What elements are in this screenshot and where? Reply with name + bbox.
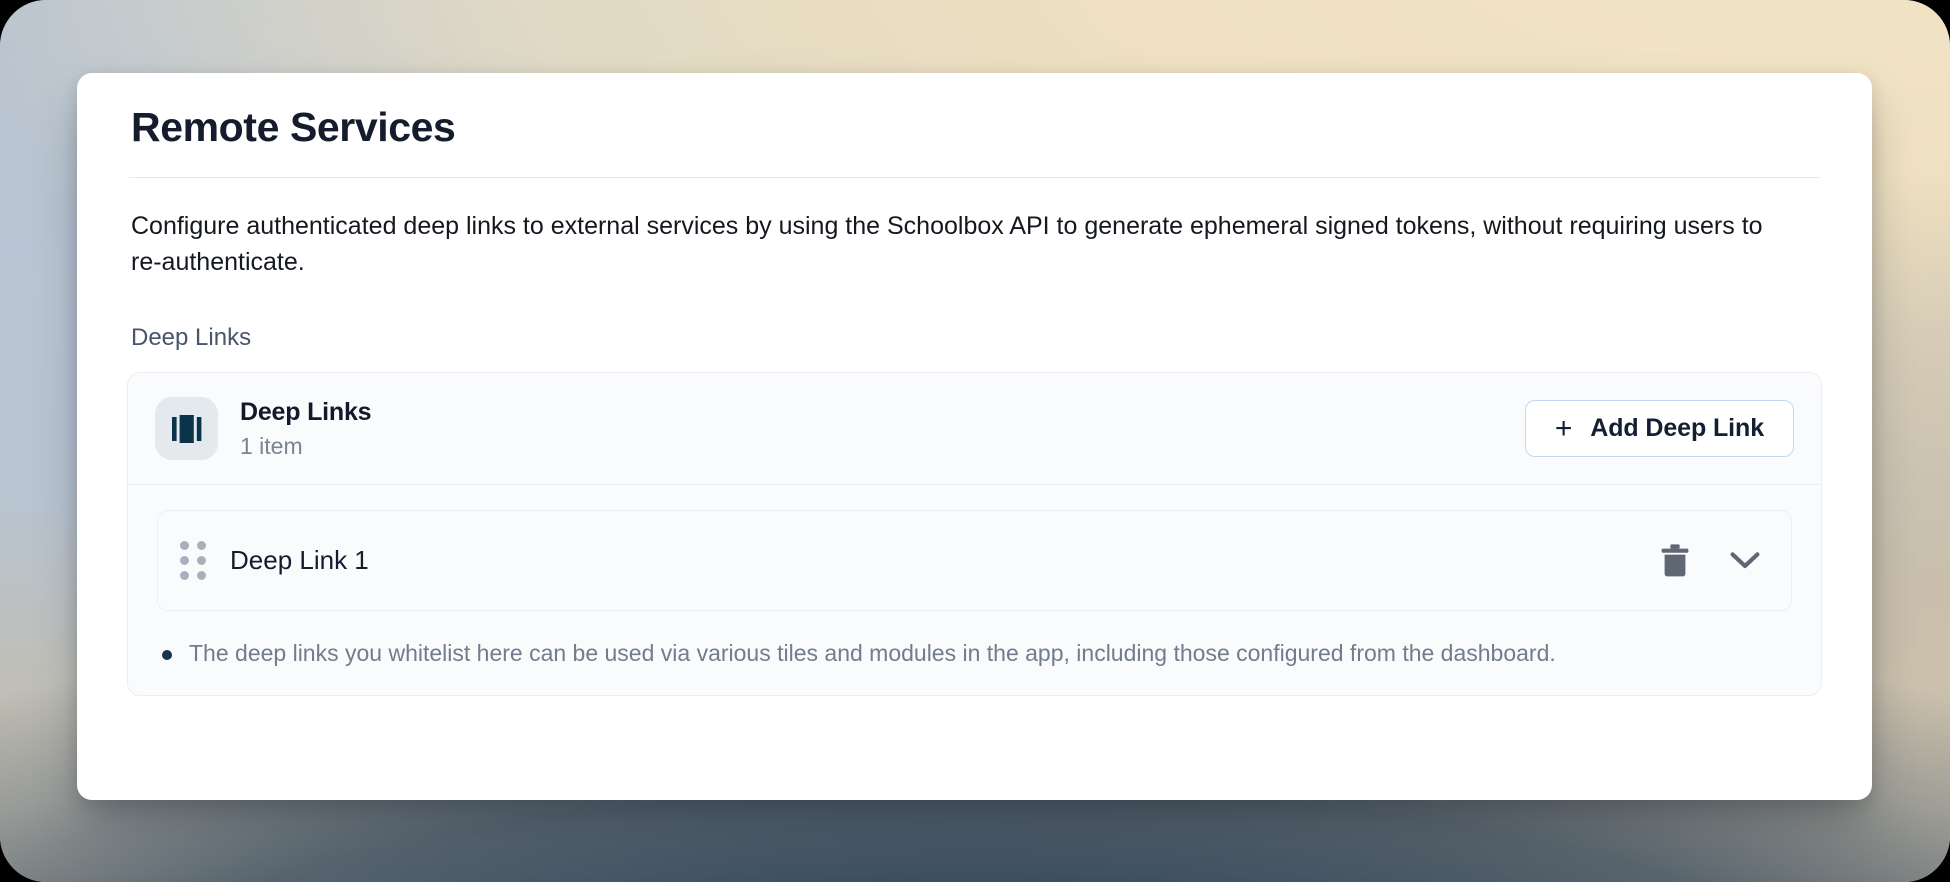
list-item-label: Deep Link 1 bbox=[230, 545, 1653, 576]
trash-icon[interactable] bbox=[1653, 539, 1697, 583]
plus-icon: + bbox=[1555, 414, 1572, 444]
remote-services-panel: Remote Services Configure authenticated … bbox=[77, 73, 1872, 800]
page-description: Configure authenticated deep links to ex… bbox=[131, 209, 1781, 280]
columns-panels-icon bbox=[155, 397, 218, 460]
list-item-actions bbox=[1653, 539, 1767, 583]
screen-root: Remote Services Configure authenticated … bbox=[0, 0, 1950, 882]
chevron-down-icon[interactable] bbox=[1723, 539, 1767, 583]
page-title: Remote Services bbox=[131, 104, 1824, 151]
section-label-deep-links: Deep Links bbox=[131, 324, 1824, 352]
footnote: The deep links you whitelist here can be… bbox=[128, 611, 1821, 695]
group-title: Deep Links bbox=[240, 398, 1525, 427]
group-header-text: Deep Links 1 item bbox=[240, 398, 1525, 460]
group-item-count: 1 item bbox=[240, 433, 1525, 460]
deep-links-group-header: Deep Links 1 item + Add Deep Link bbox=[128, 373, 1821, 485]
footnote-text: The deep links you whitelist here can be… bbox=[189, 640, 1556, 667]
bullet-icon bbox=[162, 650, 172, 660]
deep-links-list: Deep Link 1 bbox=[128, 485, 1821, 611]
drag-dots-icon[interactable] bbox=[180, 541, 206, 580]
title-divider bbox=[129, 177, 1820, 178]
deep-links-group-card: Deep Links 1 item + Add Deep Link Deep L… bbox=[127, 372, 1822, 696]
add-deep-link-label: Add Deep Link bbox=[1590, 414, 1764, 443]
add-deep-link-button[interactable]: + Add Deep Link bbox=[1525, 400, 1794, 457]
list-item[interactable]: Deep Link 1 bbox=[157, 510, 1792, 611]
